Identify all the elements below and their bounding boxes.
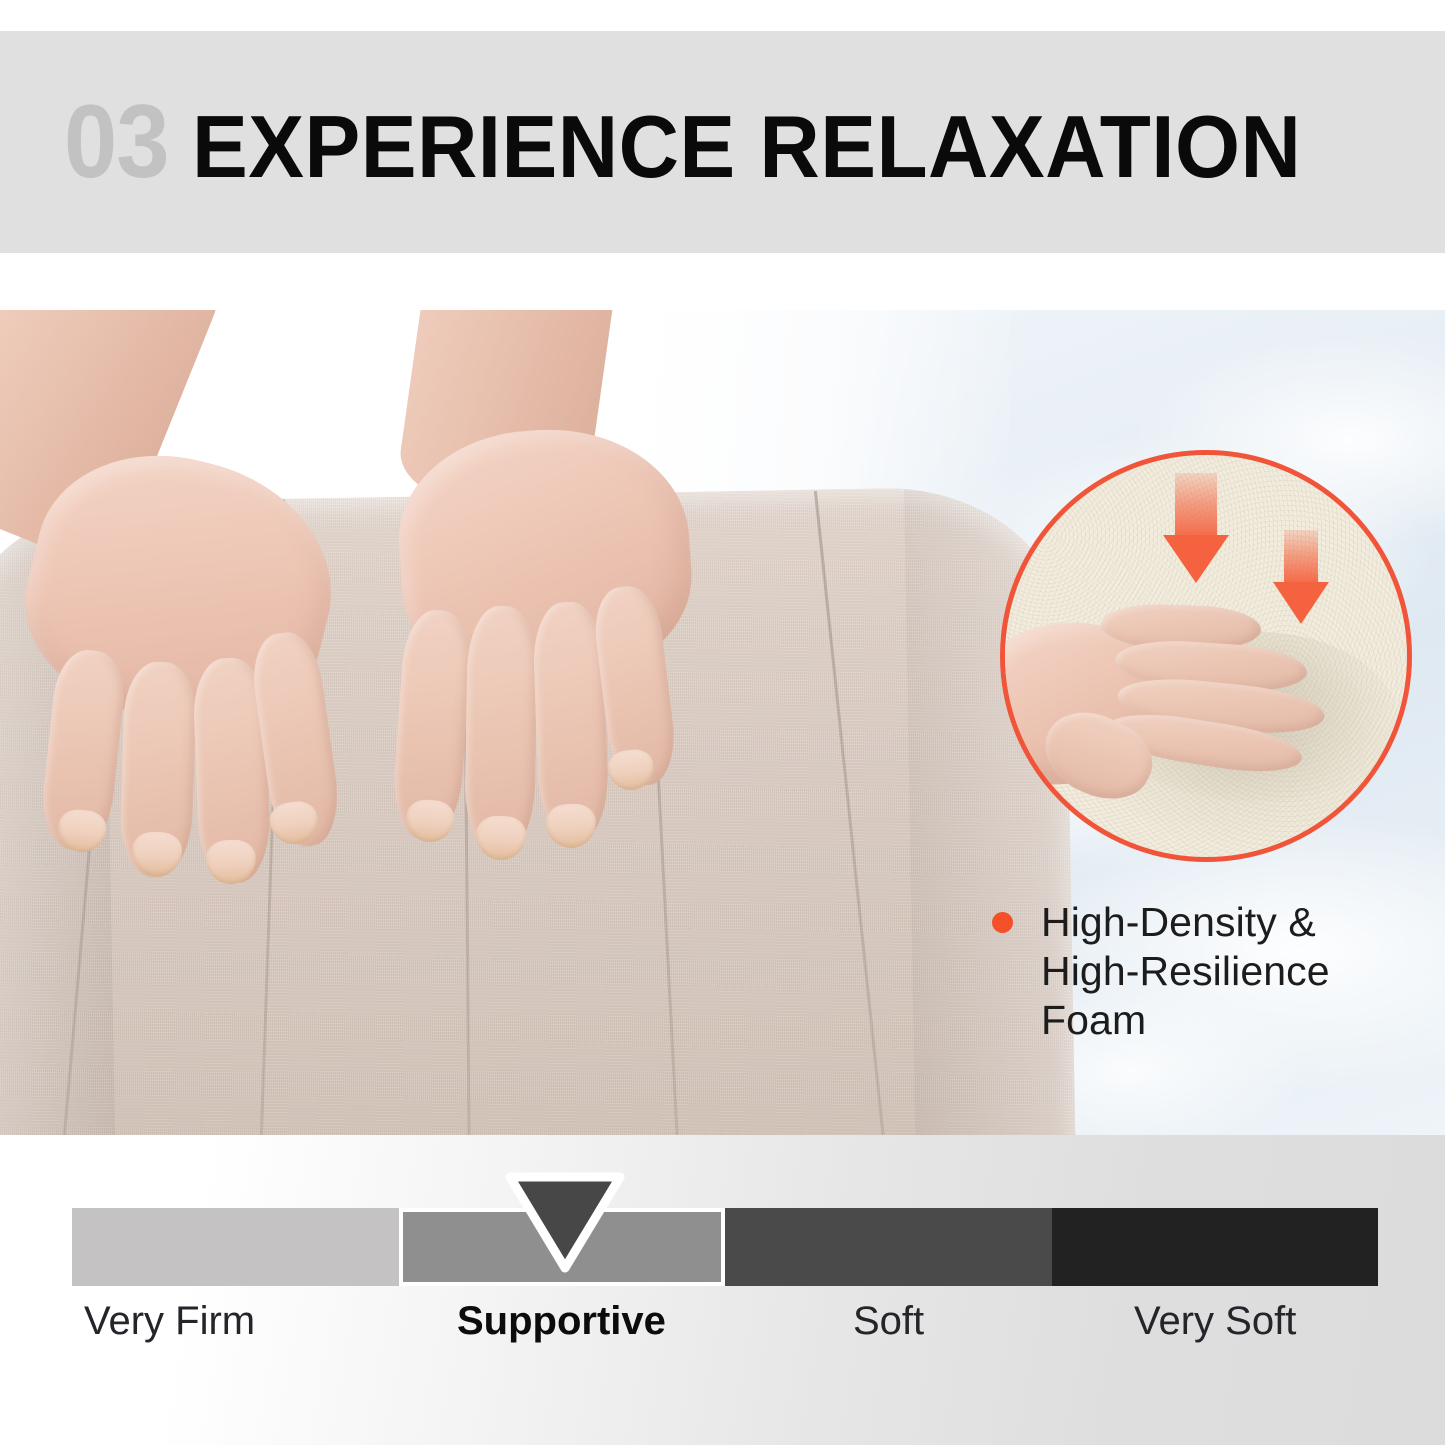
- pressure-arrow-1: [1163, 473, 1229, 583]
- feature-label: High-Density & High-Resilience Foam: [1041, 898, 1445, 1046]
- firmness-scale-bar[interactable]: [72, 1208, 1378, 1286]
- feature-bullet: High-Density & High-Resilience Foam: [992, 898, 1445, 1046]
- foam-detail-circle: [1000, 450, 1412, 862]
- firmness-panel: Very FirmSupportiveSoftVery Soft: [0, 1135, 1445, 1445]
- firmness-label-supportive: Supportive: [457, 1301, 666, 1341]
- header-inner: 03 EXPERIENCE RELAXATION: [64, 90, 1359, 194]
- step-number: 03: [64, 90, 169, 194]
- page-title: EXPERIENCE RELAXATION: [192, 103, 1301, 191]
- bullet-dot-icon: [992, 912, 1013, 933]
- header-band: 03 EXPERIENCE RELAXATION: [0, 31, 1445, 253]
- firmness-label-soft: Soft: [853, 1301, 924, 1341]
- firmness-segment-very-soft[interactable]: [1052, 1208, 1379, 1286]
- firmness-segment-soft[interactable]: [725, 1208, 1052, 1286]
- firmness-scale-labels: Very FirmSupportiveSoftVery Soft: [72, 1301, 1378, 1361]
- firmness-segment-very-firm[interactable]: [72, 1208, 399, 1286]
- firmness-marker-icon: [505, 1172, 625, 1273]
- firmness-label-very-firm: Very Firm: [84, 1301, 255, 1341]
- pressure-arrow-2: [1273, 530, 1329, 626]
- infographic-page: 03 EXPERIENCE RELAXATION: [0, 0, 1445, 1445]
- firmness-label-very-soft: Very Soft: [1134, 1301, 1296, 1341]
